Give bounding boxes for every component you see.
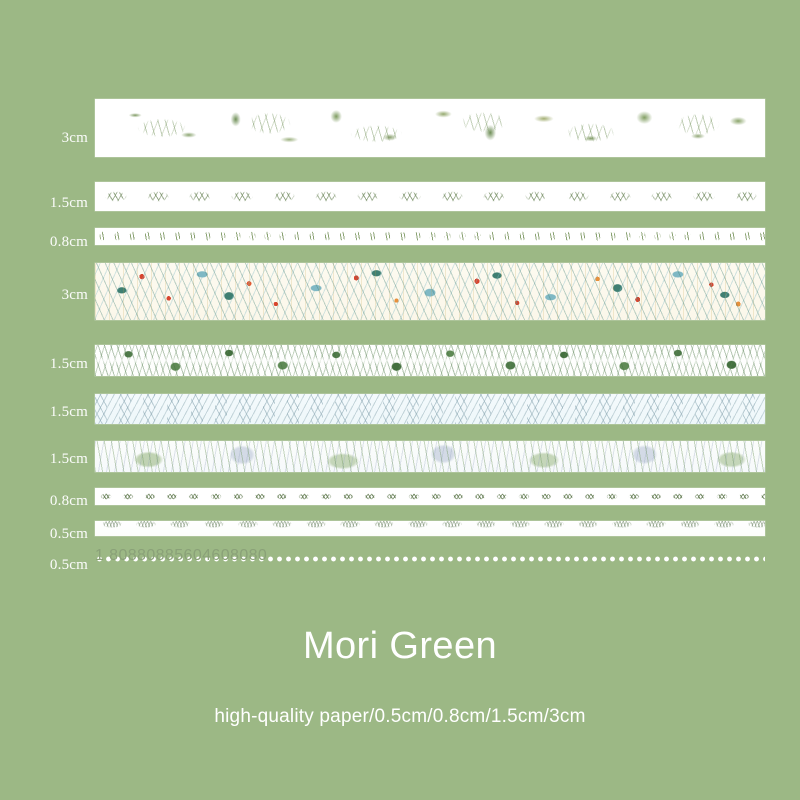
size-label-4: 3cm	[0, 288, 88, 303]
tape-strip-1	[95, 99, 765, 157]
size-label-6: 1.5cm	[0, 405, 88, 420]
tape-strip-9	[95, 521, 765, 536]
product-title: Mori Green	[0, 627, 800, 665]
tape-pattern-ivy	[95, 345, 765, 376]
tape-strip-6	[95, 394, 765, 424]
size-label-10: 0.5cm	[0, 558, 88, 573]
size-label-9: 0.5cm	[0, 527, 88, 542]
tape-pattern-lace-scallop	[95, 521, 765, 536]
size-label-7: 1.5cm	[0, 452, 88, 467]
size-label-8: 0.8cm	[0, 494, 88, 509]
product-subtitle: high-quality paper/0.5cm/0.8cm/1.5cm/3cm	[0, 707, 800, 726]
tape-pattern-sprig	[95, 182, 765, 211]
size-label-3: 0.8cm	[0, 235, 88, 250]
tape-pattern-botanical-wash	[95, 441, 765, 472]
tape-strip-4	[95, 263, 765, 320]
tape-strip-8	[95, 488, 765, 505]
tape-strip-7	[95, 441, 765, 472]
tape-strip-2	[95, 182, 765, 211]
product-image-canvas: 3cm 1.5cm 0.8cm 3cm 1.5cm 1.5cm 1.5cm 0.…	[0, 0, 800, 800]
tape-strip-5	[95, 345, 765, 376]
tape-pattern-leafrow	[95, 228, 765, 245]
size-label-1: 3cm	[0, 131, 88, 146]
tape-pattern-floral	[95, 263, 765, 320]
barcode-number: 1 80880885604608080	[95, 548, 267, 564]
size-label-5: 1.5cm	[0, 357, 88, 372]
size-label-2: 1.5cm	[0, 196, 88, 211]
tape-strip-3	[95, 228, 765, 245]
tape-pattern-foliage	[95, 99, 765, 157]
tape-pattern-herringbone-alt	[95, 394, 765, 424]
tape-pattern-grass	[95, 488, 765, 505]
